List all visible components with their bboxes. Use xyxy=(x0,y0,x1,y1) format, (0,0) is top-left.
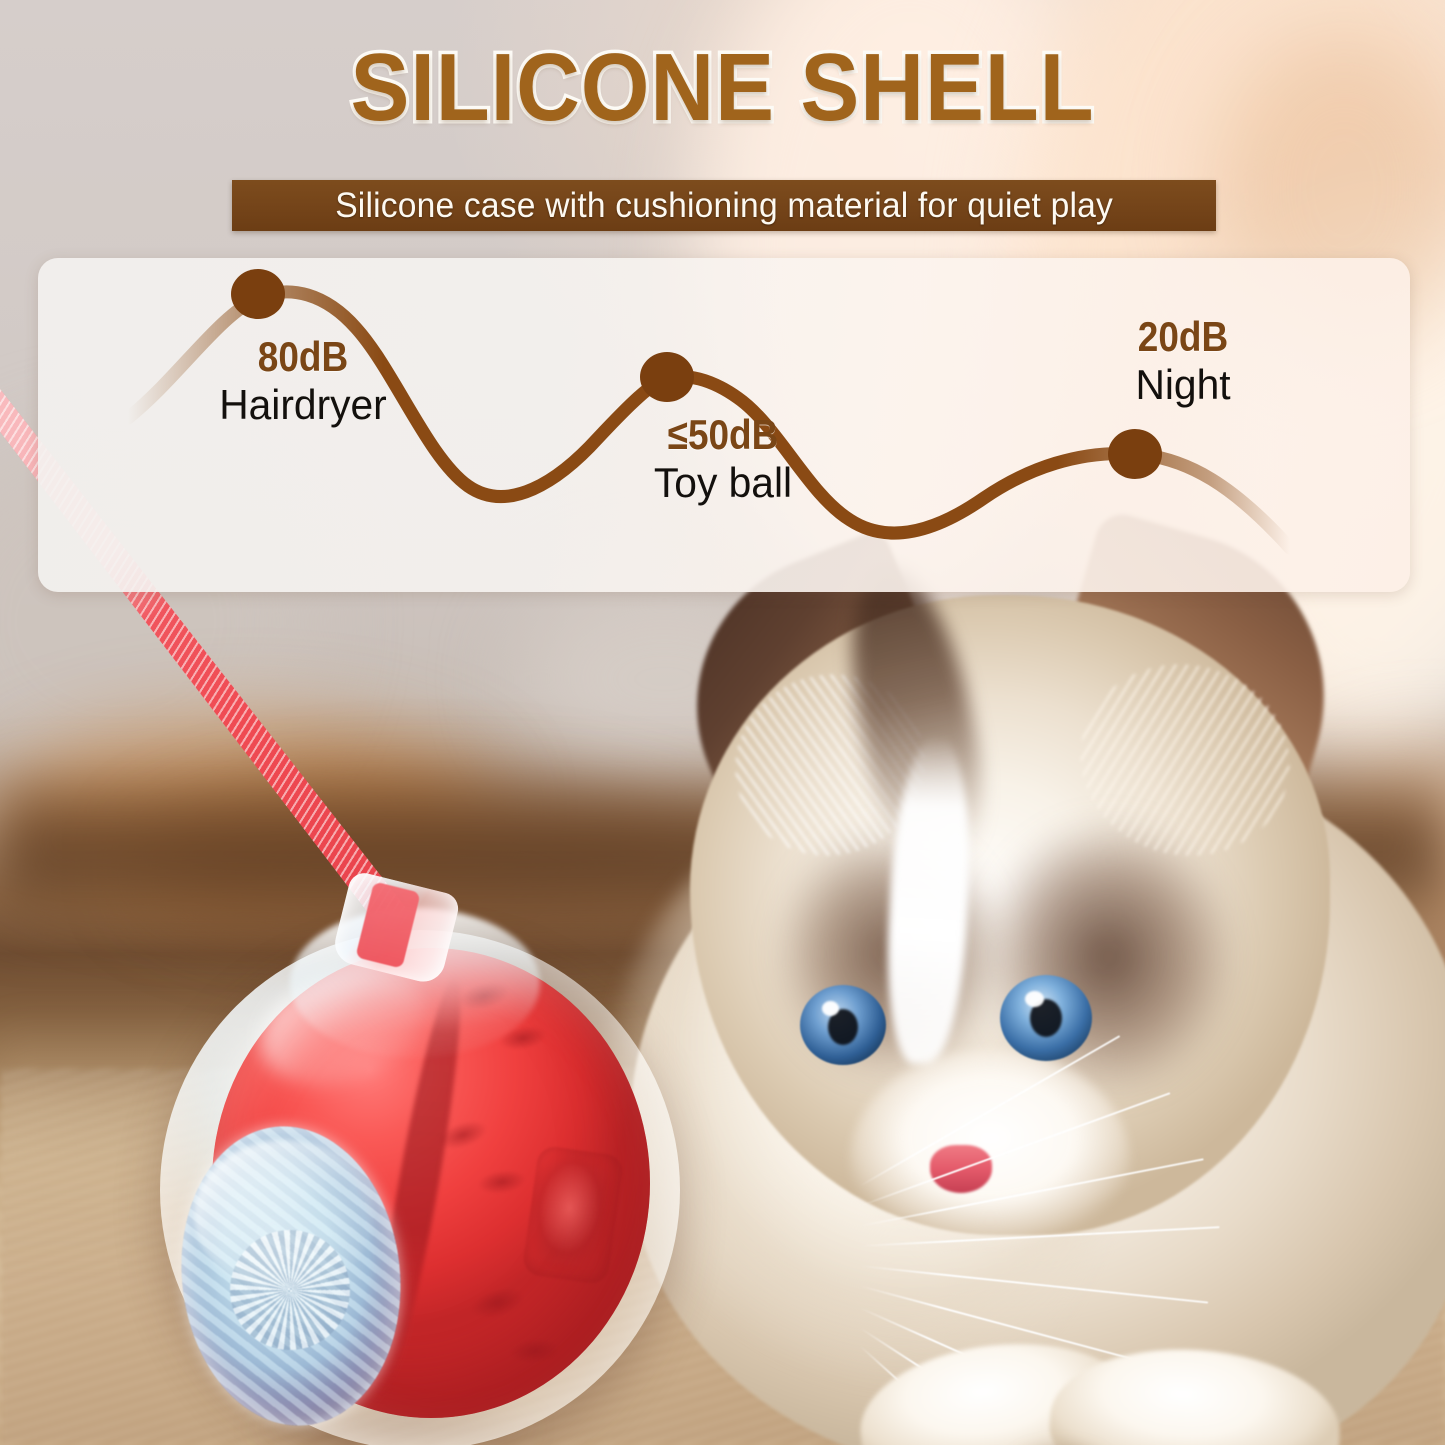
noise-db-value: ≤50dB xyxy=(595,414,850,457)
ball-window-sheen xyxy=(194,1140,374,1290)
page-title-text: SILICONE SHELL xyxy=(350,34,1094,141)
peak-marker-toyball xyxy=(640,352,694,402)
noise-db-value: 80dB xyxy=(175,336,430,379)
ball-button-emboss xyxy=(521,1145,624,1286)
cat-paw-shadow xyxy=(990,1435,1130,1445)
noise-source-name: Night xyxy=(1042,361,1323,408)
cat-whisker xyxy=(860,1226,1220,1247)
page-title: SILICONE SHELL xyxy=(58,40,1387,136)
noise-source-name: Toy ball xyxy=(582,459,863,506)
noise-label-hairdryer: 80dB Hairdryer xyxy=(158,336,448,428)
noise-label-toyball: ≤50dB Toy ball xyxy=(578,414,868,506)
cat-whisker xyxy=(860,1265,1208,1304)
toy-ball xyxy=(160,930,680,1445)
peak-marker-hairdryer xyxy=(231,269,285,319)
peak-marker-night xyxy=(1108,429,1162,479)
noise-source-name: Hairdryer xyxy=(162,381,443,428)
noise-db-value: 20dB xyxy=(1055,316,1310,359)
noise-label-night: 20dB Night xyxy=(1038,316,1328,408)
cat-eye-glint-right xyxy=(1025,991,1044,1007)
subtitle-text: Silicone case with cushioning material f… xyxy=(335,186,1113,226)
noise-comparison-panel: 80dB Hairdryer ≤50dB Toy ball 20dB Night xyxy=(38,258,1410,592)
subtitle-banner: Silicone case with cushioning material f… xyxy=(232,180,1216,231)
cat-whisker xyxy=(860,1158,1204,1227)
cat-eye-glint-left xyxy=(822,1001,839,1016)
